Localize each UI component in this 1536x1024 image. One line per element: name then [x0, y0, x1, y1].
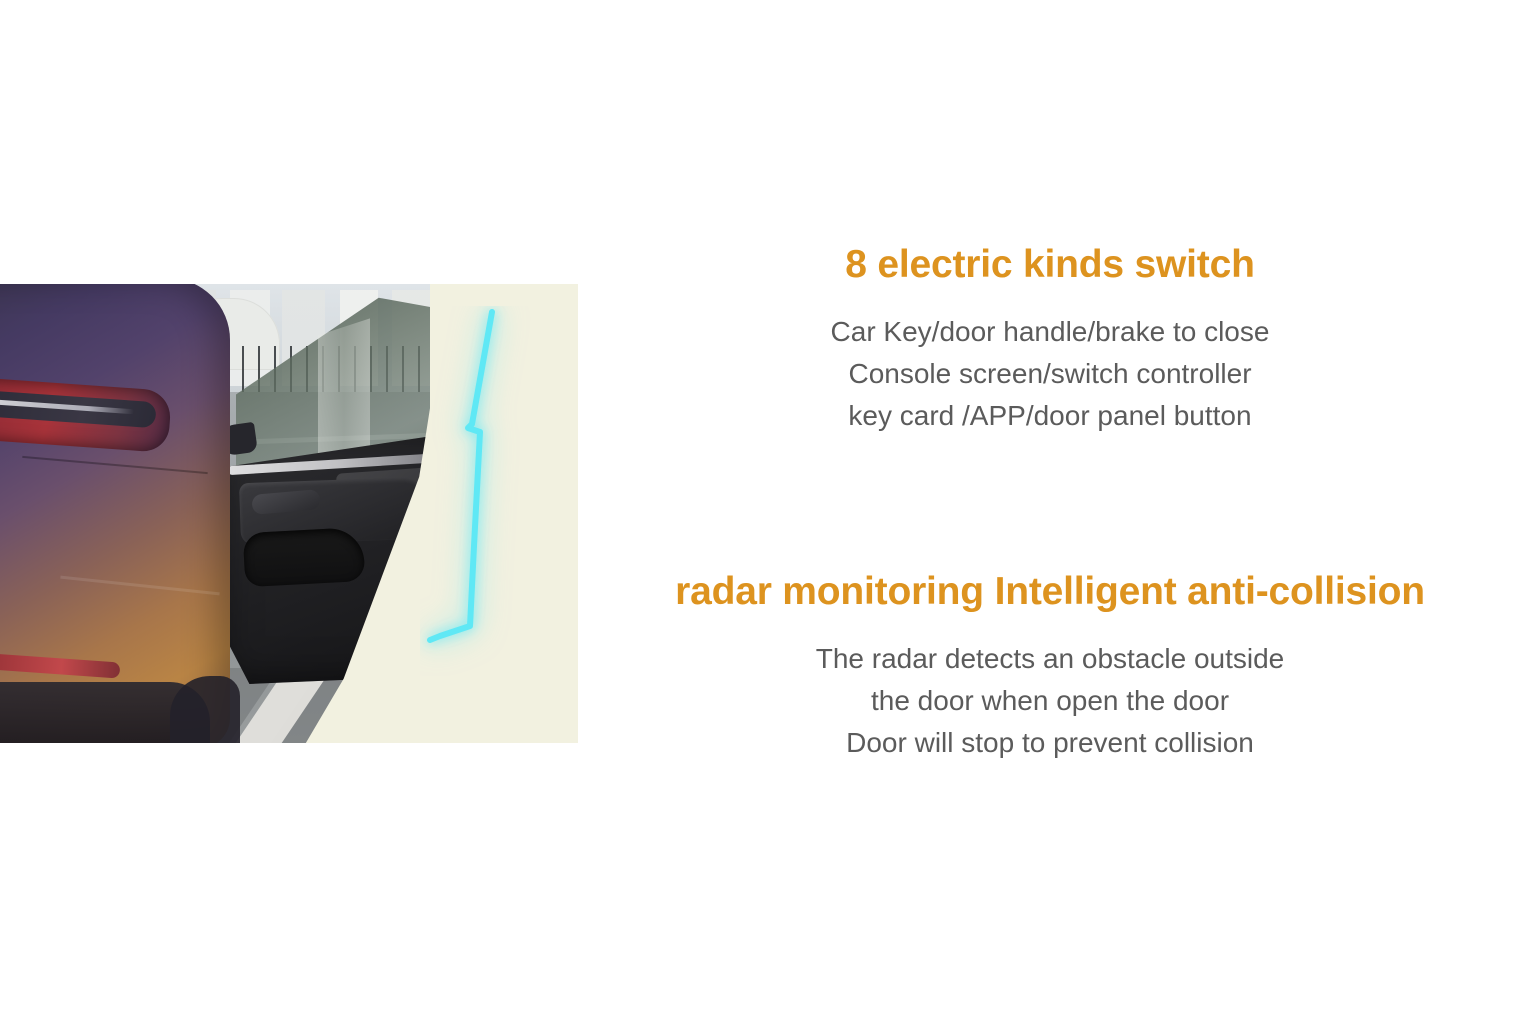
feature-line: Door will stop to prevent collision [600, 722, 1500, 764]
feature-line: the door when open the door [600, 680, 1500, 722]
feature-block-radar: radar monitoring Intelligent anti-collis… [600, 570, 1500, 764]
product-photo [0, 284, 578, 743]
feature-radar-lines: The radar detects an obstacle outside th… [600, 638, 1500, 764]
photo-door-pocket [243, 527, 366, 587]
feature-copy-column: 8 electric kinds switch Car Key/door han… [600, 0, 1500, 1024]
feature-radar-title: radar monitoring Intelligent anti-collis… [600, 570, 1500, 615]
cream-brand-panel-fill [430, 284, 578, 743]
feature-line: key card /APP/door panel button [600, 395, 1500, 437]
feature-switch-title: 8 electric kinds switch [600, 243, 1500, 288]
feature-line: Console screen/switch controller [600, 353, 1500, 395]
feature-block-switch: 8 electric kinds switch Car Key/door han… [600, 243, 1500, 437]
feature-line: The radar detects an obstacle outside [600, 638, 1500, 680]
feature-line: Car Key/door handle/brake to close [600, 311, 1500, 353]
feature-switch-lines: Car Key/door handle/brake to close Conso… [600, 311, 1500, 437]
